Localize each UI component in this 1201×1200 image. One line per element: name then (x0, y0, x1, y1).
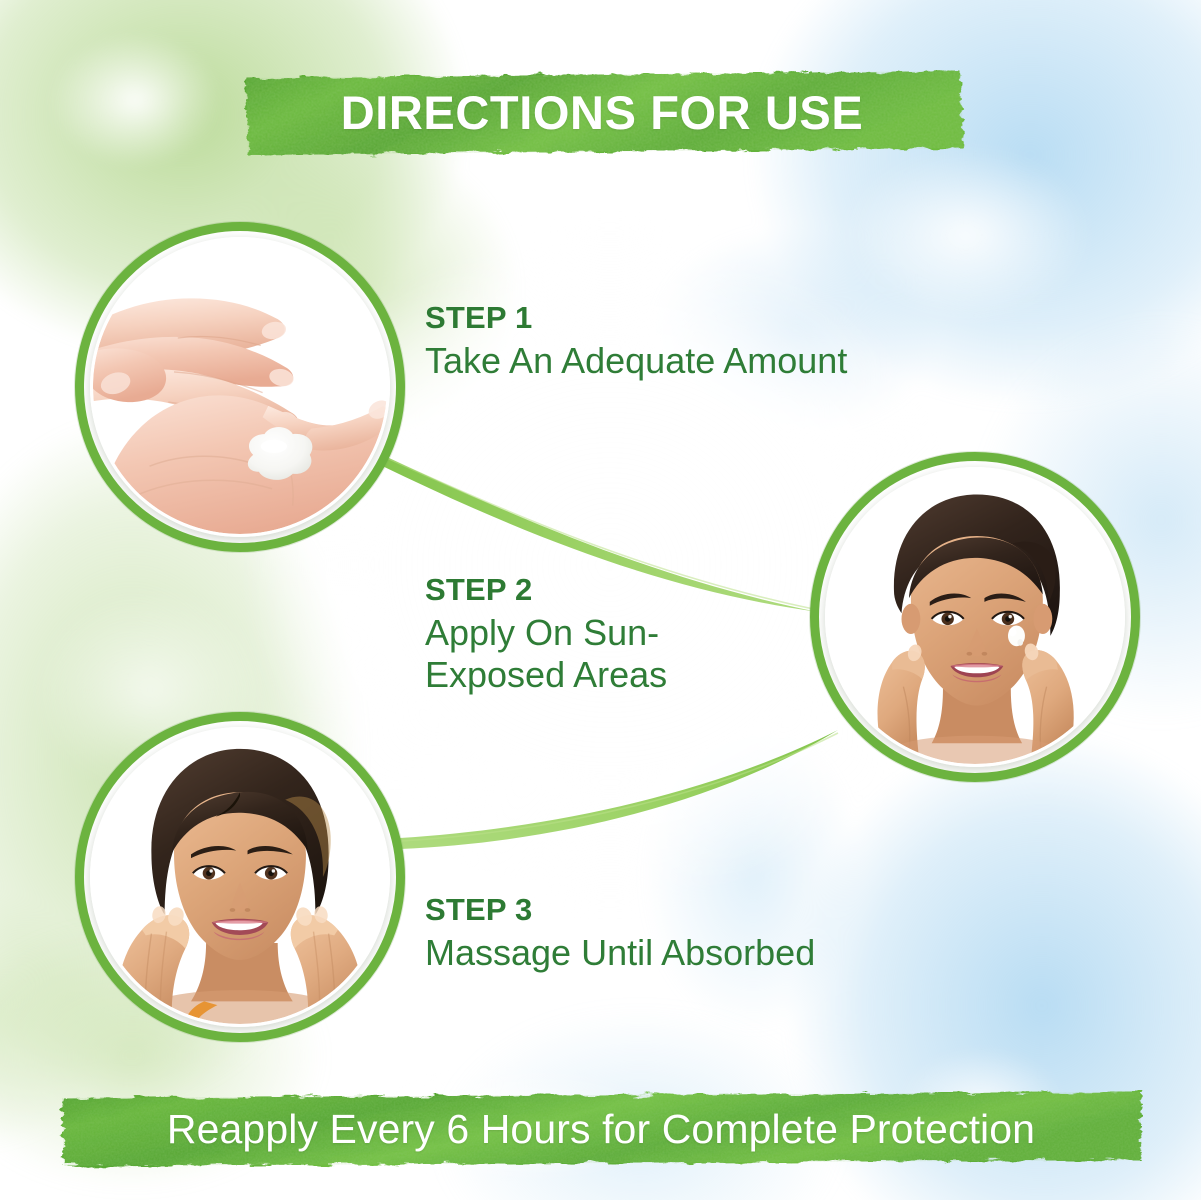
cream-dab (1008, 625, 1025, 646)
header-banner: DIRECTIONS FOR USE (238, 62, 966, 162)
step-2-description-line-1: Apply On Sun- (425, 612, 667, 654)
step-3-image-circle (75, 712, 405, 1042)
hands-with-cream-photo (93, 240, 387, 534)
step-3-description: Massage Until Absorbed (425, 932, 815, 974)
step-2-description-line-2: Exposed Areas (425, 654, 667, 696)
directions-for-use-poster: DIRECTIONS FOR USE (0, 0, 1201, 1200)
connector-step3-highlight (402, 733, 838, 841)
step-3-number: STEP 3 (425, 892, 815, 929)
step-2-number: STEP 2 (425, 572, 667, 609)
step-1-text: STEP 1 Take An Adequate Amount (425, 300, 847, 382)
footer-banner: Reapply Every 6 Hours for Complete Prote… (56, 1086, 1146, 1172)
connector-step3-to-step2 (400, 730, 838, 849)
woman-applying-cream-photo (828, 470, 1122, 764)
page-title: DIRECTIONS FOR USE (341, 85, 864, 140)
step-2-image-circle (810, 452, 1140, 782)
step-3-text: STEP 3 Massage Until Absorbed (425, 892, 815, 974)
woman-massaging-face-photo (93, 730, 387, 1024)
step-1-description: Take An Adequate Amount (425, 340, 847, 382)
step-1-image-circle (75, 222, 405, 552)
footer-note: Reapply Every 6 Hours for Complete Prote… (167, 1106, 1035, 1153)
step-2-text: STEP 2 Apply On Sun- Exposed Areas (425, 572, 667, 697)
step-1-number: STEP 1 (425, 300, 847, 337)
